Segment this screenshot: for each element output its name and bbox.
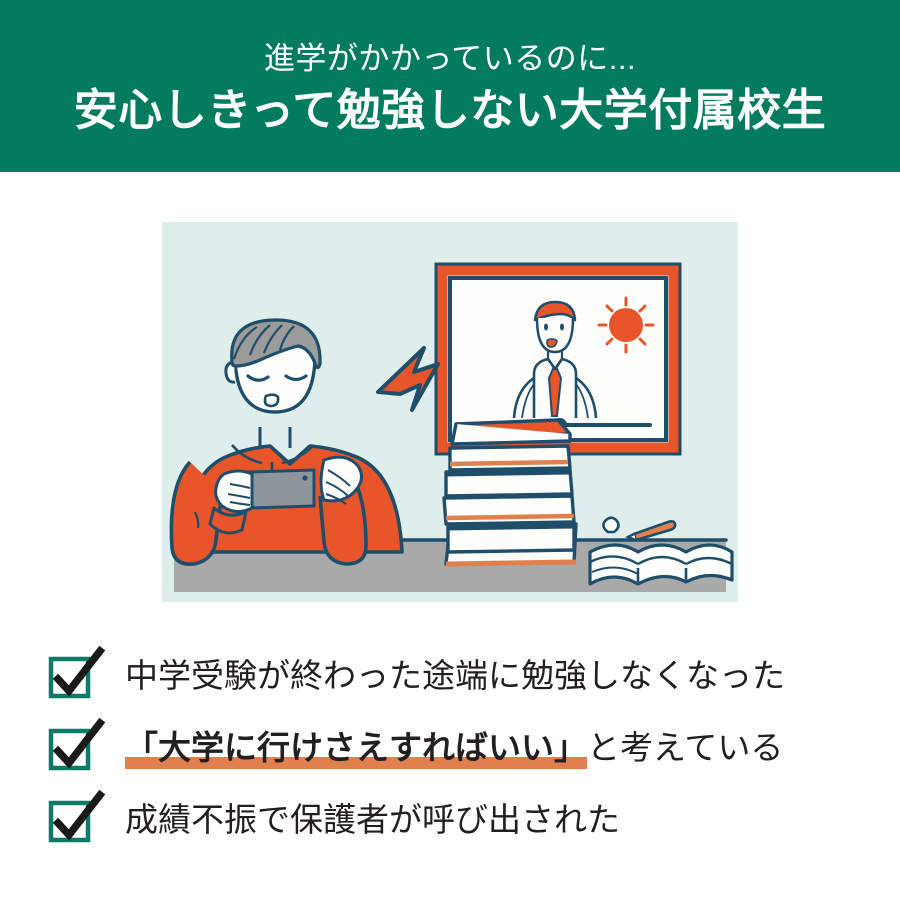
smartphone <box>248 470 314 508</box>
list-item-label: 「大学に行けさえすればいい」と考えている <box>125 728 783 768</box>
list-item-text: 成績不振で保護者が呼び出された <box>125 801 620 838</box>
header-title: 安心しきって勉強しない大学付属校生 <box>74 83 827 138</box>
illustration-panel <box>162 222 738 602</box>
list-item[interactable]: 「大学に行けさえすればいい」と考えている <box>0 712 900 784</box>
header-banner: 進学がかかっているのに... 安心しきって勉強しない大学付属校生 <box>0 0 900 172</box>
book-stack <box>444 420 576 564</box>
list-item-text: と考えている <box>587 729 783 766</box>
list-item-text: 中学受験が終わった途端に勉強しなくなった <box>125 657 785 694</box>
list-item[interactable]: 成績不振で保護者が呼び出された <box>0 784 900 856</box>
checkbox-checked-icon[interactable] <box>48 797 94 843</box>
sun-icon <box>599 298 653 352</box>
header-subtitle: 進学がかかっているのに... <box>264 42 636 76</box>
list-item-highlighted-inner: 「大学に行けさえすればいい」 <box>125 729 587 766</box>
checklist: 中学受験が終わった途端に勉強しなくなった 「大学に行けさえすればいい」と考えてい… <box>0 640 900 856</box>
list-item-label: 中学受験が終わった途端に勉強しなくなった <box>125 656 785 696</box>
list-item-label: 成績不振で保護者が呼び出された <box>125 800 620 840</box>
list-item[interactable]: 中学受験が終わった途端に勉強しなくなった <box>0 640 900 712</box>
list-item-highlighted-text: 「大学に行けさえすればいい」 <box>125 728 587 768</box>
checkbox-checked-icon[interactable] <box>48 653 94 699</box>
checkbox-checked-icon[interactable] <box>48 725 94 771</box>
